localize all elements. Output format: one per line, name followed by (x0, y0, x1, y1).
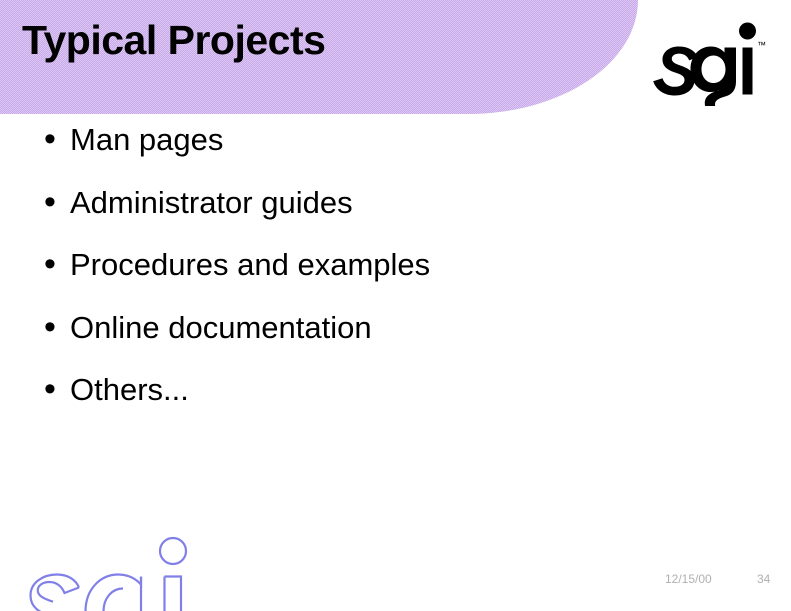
footer-page-number: 34 (757, 572, 770, 586)
bullet-point-icon: • (44, 247, 70, 281)
trademark-symbol: ™ (757, 40, 766, 50)
list-item: • Online documentation (44, 310, 744, 373)
bullet-point-icon: • (44, 122, 70, 156)
list-item-label: Others... (70, 374, 189, 405)
slide-title: Typical Projects (22, 18, 325, 63)
list-item-label: Man pages (70, 124, 223, 155)
list-item: • Others... (44, 372, 744, 435)
bullet-list: • Man pages • Administrator guides • Pro… (44, 122, 744, 435)
bullet-point-icon: • (44, 185, 70, 219)
footer-date: 12/15/00 (665, 572, 712, 586)
list-item-label: Online documentation (70, 312, 372, 343)
slide-canvas: Typical Projects ™ • Man pages • Adminis (0, 0, 791, 611)
list-item: • Procedures and examples (44, 247, 744, 310)
list-item: • Administrator guides (44, 185, 744, 248)
list-item-label: Procedures and examples (70, 249, 430, 280)
sgi-watermark-logo (16, 536, 216, 611)
bullet-point-icon: • (44, 310, 70, 344)
sgi-logo: ™ (648, 14, 768, 106)
slide-footer: 12/15/00 34 (655, 572, 791, 592)
list-item: • Man pages (44, 122, 744, 185)
bullet-point-icon: • (44, 372, 70, 406)
list-item-label: Administrator guides (70, 187, 353, 218)
